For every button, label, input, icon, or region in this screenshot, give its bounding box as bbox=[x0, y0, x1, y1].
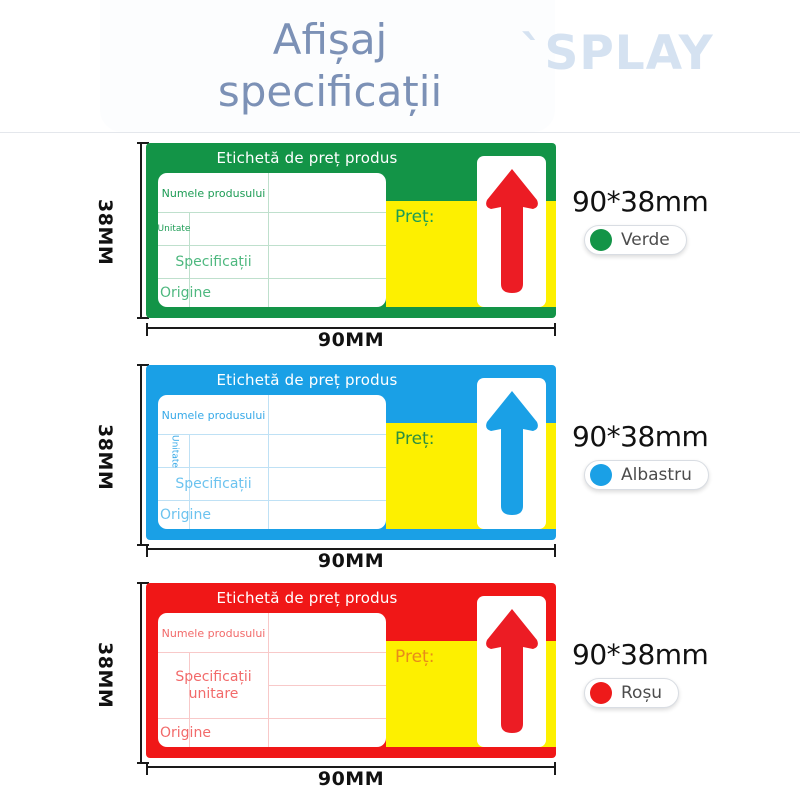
swatch-dot-blue-icon bbox=[590, 464, 612, 486]
color-swatch-red[interactable]: Roșu bbox=[584, 678, 679, 708]
price-label-card-red: Etichetă de preț produs Numele produsulu… bbox=[146, 583, 556, 758]
price-label-red: Preț: bbox=[395, 647, 434, 667]
field-label-unit-blue: Unitate bbox=[158, 435, 190, 468]
swatch-dot-green-icon bbox=[590, 229, 612, 251]
arrow-panel-red bbox=[477, 596, 546, 747]
price-label-card-green: Etichetă de preț produs Numele produsulu… bbox=[146, 143, 556, 318]
variant-info-green: 90*38mm Verde bbox=[572, 185, 708, 255]
field-label-origin-blue: Origine bbox=[158, 501, 269, 529]
swatch-dot-red-icon bbox=[590, 682, 612, 704]
field-value-specification-green bbox=[269, 246, 386, 279]
spec-display-page: `SPLAY Afișaj specificații 38MM Etichetă… bbox=[0, 0, 800, 800]
size-text-red: 90*38mm bbox=[572, 638, 708, 672]
field-label-specification-green: Specificații bbox=[158, 246, 269, 279]
variant-row-red: 38MM Etichetă de preț produs Numele prod… bbox=[0, 570, 800, 795]
label-fields-table-green: Numele produsului Unitate Specificații O… bbox=[158, 173, 386, 307]
size-text-green: 90*38mm bbox=[572, 185, 708, 219]
height-dimension-label-green: 38MM bbox=[94, 199, 116, 265]
variant-row-blue: 38MM Etichetă de preț produs Numele prod… bbox=[0, 348, 800, 570]
color-swatch-green[interactable]: Verde bbox=[584, 225, 687, 255]
height-dimension-line-red bbox=[140, 583, 142, 763]
color-swatch-blue[interactable]: Albastru bbox=[584, 460, 709, 490]
field-value-origin-blue bbox=[269, 501, 386, 529]
field-value-product-name-blue bbox=[269, 395, 386, 435]
height-dimension-line-green bbox=[140, 143, 142, 318]
size-text-blue: 90*38mm bbox=[572, 420, 709, 454]
field-value-spec-unit-b-red bbox=[269, 686, 386, 719]
width-dimension-label-blue: 90MM bbox=[146, 550, 556, 572]
field-label-product-name-green: Numele produsului bbox=[158, 173, 269, 213]
field-value-product-name-red bbox=[269, 613, 386, 653]
field-value-unit-green bbox=[190, 213, 269, 246]
field-value-spec-unit-a-red bbox=[269, 653, 386, 686]
label-fields-table-red: Numele produsului Specificații unitare O… bbox=[158, 613, 386, 747]
label-fields-table-blue: Numele produsului Unitate Specificații O… bbox=[158, 395, 386, 529]
field-label-origin-green: Origine bbox=[158, 279, 269, 307]
color-name-green: Verde bbox=[621, 230, 670, 250]
variant-info-red: 90*38mm Roșu bbox=[572, 638, 708, 708]
field-label-product-name-blue: Numele produsului bbox=[158, 395, 269, 435]
up-arrow-icon bbox=[483, 388, 541, 520]
width-dimension-label-red: 90MM bbox=[146, 768, 556, 790]
field-value-unit-blue bbox=[190, 435, 269, 468]
height-dimension-label-red: 38MM bbox=[94, 642, 116, 708]
field-value-specification-blue bbox=[269, 468, 386, 501]
arrow-panel-green bbox=[477, 156, 546, 307]
price-label-card-blue: Etichetă de preț produs Numele produsulu… bbox=[146, 365, 556, 540]
color-name-blue: Albastru bbox=[621, 465, 692, 485]
height-dimension-line-blue bbox=[140, 365, 142, 545]
price-label-green: Preț: bbox=[395, 207, 434, 227]
field-value-origin-red bbox=[269, 719, 386, 747]
field-value-origin-green bbox=[269, 279, 386, 307]
page-header: `SPLAY Afișaj specificații bbox=[0, 0, 800, 133]
height-dimension-label-blue: 38MM bbox=[94, 424, 116, 490]
field-label-unit-green: Unitate bbox=[158, 213, 190, 246]
color-name-red: Roșu bbox=[621, 683, 662, 703]
field-value-product-name-green bbox=[269, 173, 386, 213]
field-label-product-name-red: Numele produsului bbox=[158, 613, 269, 653]
page-title: Afișaj specificații bbox=[120, 14, 540, 118]
field-label-specification-blue: Specificații bbox=[158, 468, 269, 501]
price-label-blue: Preț: bbox=[395, 429, 434, 449]
up-arrow-icon bbox=[483, 606, 541, 738]
field-label-spec-unit-red: Specificații unitare bbox=[158, 653, 269, 719]
variant-info-blue: 90*38mm Albastru bbox=[572, 420, 709, 490]
variant-row-green: 38MM Etichetă de preț produs Numele prod… bbox=[0, 133, 800, 348]
up-arrow-icon bbox=[483, 166, 541, 298]
watermark-text: `SPLAY bbox=[520, 26, 720, 82]
arrow-panel-blue bbox=[477, 378, 546, 529]
field-label-origin-red: Origine bbox=[158, 719, 269, 747]
